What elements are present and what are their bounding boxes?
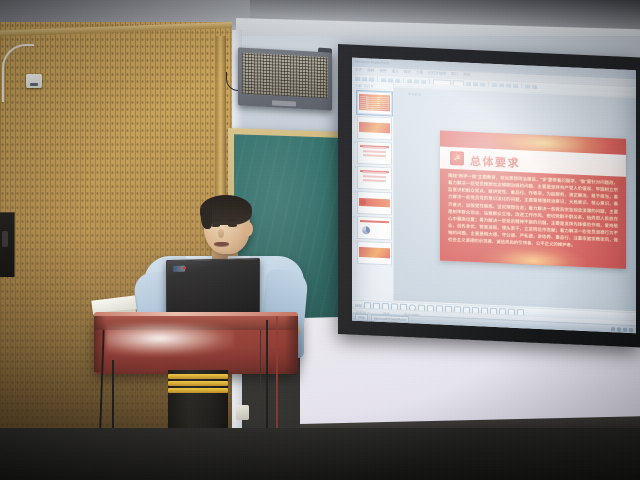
powerpoint-application: Microsoft PowerPoint 文件 编辑 视图 插入 格式 工具 幻… [352, 58, 636, 334]
presenter-nose [218, 229, 224, 238]
podium-gold-stripe [168, 381, 228, 386]
presenter-ear [244, 222, 253, 236]
list-item[interactable]: 4 [353, 166, 392, 191]
tab-outline[interactable]: 大纲 [355, 82, 362, 87]
speaker-badge [272, 100, 296, 106]
system-tray [611, 327, 633, 332]
list-item[interactable]: 3 [353, 141, 392, 166]
list-item[interactable]: 5 [353, 191, 392, 216]
list-item[interactable]: 7 [353, 241, 392, 266]
ppt-workspace: 大纲 幻灯片 1 2 [352, 81, 636, 312]
ppt-window-title: Microsoft PowerPoint [355, 60, 389, 66]
projected-image: Microsoft PowerPoint 文件 编辑 视图 插入 格式 工具 幻… [352, 58, 636, 334]
tray-ime-icon[interactable] [623, 327, 627, 331]
slide-thumbnail-2[interactable] [357, 116, 392, 141]
thumb-red-band [359, 122, 390, 133]
lecture-hall-photo: Microsoft PowerPoint 文件 编辑 视图 插入 格式 工具 幻… [0, 0, 640, 480]
thumb-pie-chart-icon [362, 226, 370, 234]
slide-body-text: 围绕“两学一做”主题教育，突出思想政治建设，“学”要带着问题学，“做”要针对问题… [448, 172, 618, 257]
thumb-number: 1 [353, 91, 356, 94]
thumb-emblem-icon [360, 199, 366, 205]
podium-gold-stripe [168, 388, 228, 393]
thumb-text-lines [360, 96, 389, 110]
presenter-eye-left [211, 224, 220, 227]
menu-insert[interactable]: 插入 [392, 69, 399, 74]
laptop[interactable] [166, 258, 260, 320]
hammer-sickle-emblem-icon: ☭ [450, 151, 464, 166]
thumb-number: 5 [353, 191, 356, 194]
thumb-number: 7 [353, 241, 356, 244]
tab-slides[interactable]: 幻灯片 [364, 83, 374, 88]
menu-view[interactable]: 视图 [379, 69, 386, 74]
menu-edit[interactable]: 编辑 [367, 68, 374, 73]
taskbar-item-powerpoint[interactable]: Microsoft PowerPoint [371, 314, 409, 323]
menu-tools[interactable]: 工具 [416, 70, 423, 75]
thumb-red-band [359, 247, 390, 258]
thumb-number: 2 [353, 116, 356, 119]
projection-screen: Microsoft PowerPoint 文件 编辑 视图 插入 格式 工具 幻… [338, 44, 640, 347]
thumb-number: 6 [353, 216, 356, 219]
slide-thumbnail-1[interactable] [357, 91, 392, 116]
floor [0, 428, 640, 480]
slide-thumbnail-5[interactable] [357, 191, 392, 216]
presenter-eye-right [228, 224, 237, 227]
menu-format[interactable]: 格式 [404, 70, 411, 75]
presenter-eyebrow-left [210, 219, 220, 221]
tray-volume-icon[interactable] [611, 327, 615, 331]
slide-thumbnail-4[interactable] [357, 166, 392, 191]
menu-help[interactable]: 帮助 [463, 73, 470, 78]
wall-sensor-icon [26, 74, 42, 88]
podium-gold-stripe [168, 374, 228, 379]
drawing-toolbar-label[interactable]: 绘图 [355, 302, 362, 307]
wall-device-cable [2, 44, 34, 102]
tray-network-icon[interactable] [617, 327, 621, 331]
presenter-mouth [214, 242, 229, 247]
tray-clock-icon [629, 327, 633, 331]
menu-window[interactable]: 窗口 [451, 72, 458, 77]
wall-panel-dark [0, 212, 15, 277]
list-item[interactable]: 1 [353, 91, 392, 116]
slide-edit-area[interactable]: 单击此处 ☭ 总体要求 围绕“两学一做”主题教育，突出思想政治建设，“学”要带着… [394, 82, 636, 311]
slide-title: 总体要求 [470, 153, 520, 171]
start-button[interactable]: 开始 [355, 314, 368, 322]
power-outlet-right[interactable] [236, 405, 249, 420]
menu-file[interactable]: 文件 [355, 68, 362, 73]
thumb-number: 4 [353, 166, 356, 169]
slide-thumbnail-3[interactable] [357, 141, 392, 166]
slide-thumbnail-7[interactable] [357, 241, 392, 266]
thumb-number: 3 [353, 141, 356, 144]
list-item[interactable]: 6 [353, 216, 392, 241]
pane-tabs: 大纲 幻灯片 [353, 82, 392, 91]
slide-thumbnail-6[interactable] [357, 216, 392, 241]
speaker-grille [242, 53, 328, 99]
outline-placeholder: 单击此处 [408, 91, 422, 97]
menu-slideshow[interactable]: 幻灯片放映 [428, 71, 446, 77]
laptop-brand-logo-icon [173, 266, 185, 272]
presenter-eyebrow-right [227, 219, 237, 221]
current-slide[interactable]: ☭ 总体要求 围绕“两学一做”主题教育，突出思想政治建设，“学”要带着问题学，“… [440, 131, 626, 269]
wall-speaker [238, 47, 332, 110]
slide-thumbnail-pane[interactable]: 大纲 幻灯片 1 2 [352, 81, 394, 301]
podium-bevel-right [284, 316, 298, 374]
presenter-hair [200, 195, 252, 225]
list-item[interactable]: 2 [353, 116, 392, 141]
